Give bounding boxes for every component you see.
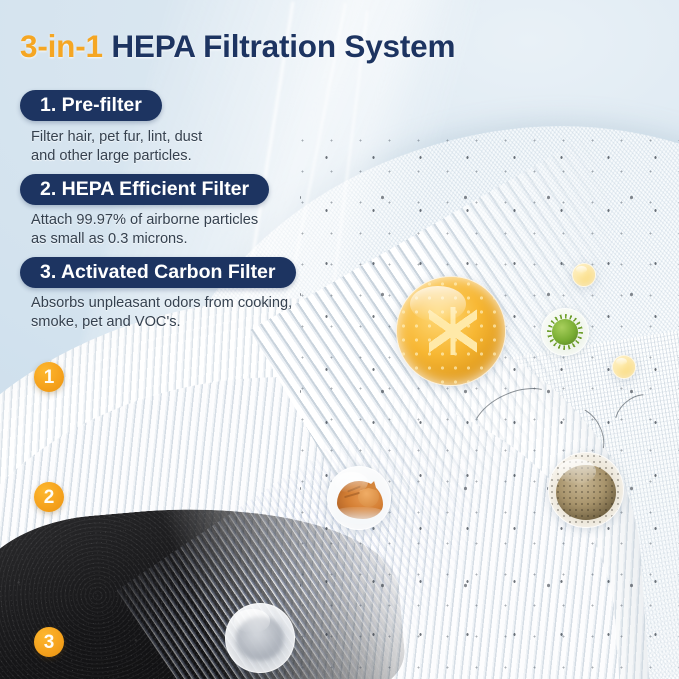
layer-marker-1: 1 xyxy=(34,362,64,392)
infographic-canvas: 3-in-1 HEPA Filtration System 1. Pre-fil… xyxy=(0,0,679,679)
text-overlay: 3-in-1 HEPA Filtration System 1. Pre-fil… xyxy=(0,0,679,679)
feature-description-3: Absorbs unpleasant odors from cooking, s… xyxy=(31,294,292,333)
layer-marker-2: 2 xyxy=(34,482,64,512)
title-highlight: 3-in-1 xyxy=(20,28,103,64)
page-title: 3-in-1 HEPA Filtration System xyxy=(20,28,455,65)
feature-description-1: Filter hair, pet fur, lint, dust and oth… xyxy=(31,128,202,167)
feature-description-2: Attach 99.97% of airborne particles as s… xyxy=(31,211,258,250)
title-rest: HEPA Filtration System xyxy=(103,28,455,64)
feature-badge-2: 2. HEPA Efficient Filter xyxy=(20,174,269,205)
feature-badge-3: 3. Activated Carbon Filter xyxy=(20,257,296,288)
layer-marker-3: 3 xyxy=(34,627,64,657)
feature-badge-1: 1. Pre-filter xyxy=(20,90,162,121)
